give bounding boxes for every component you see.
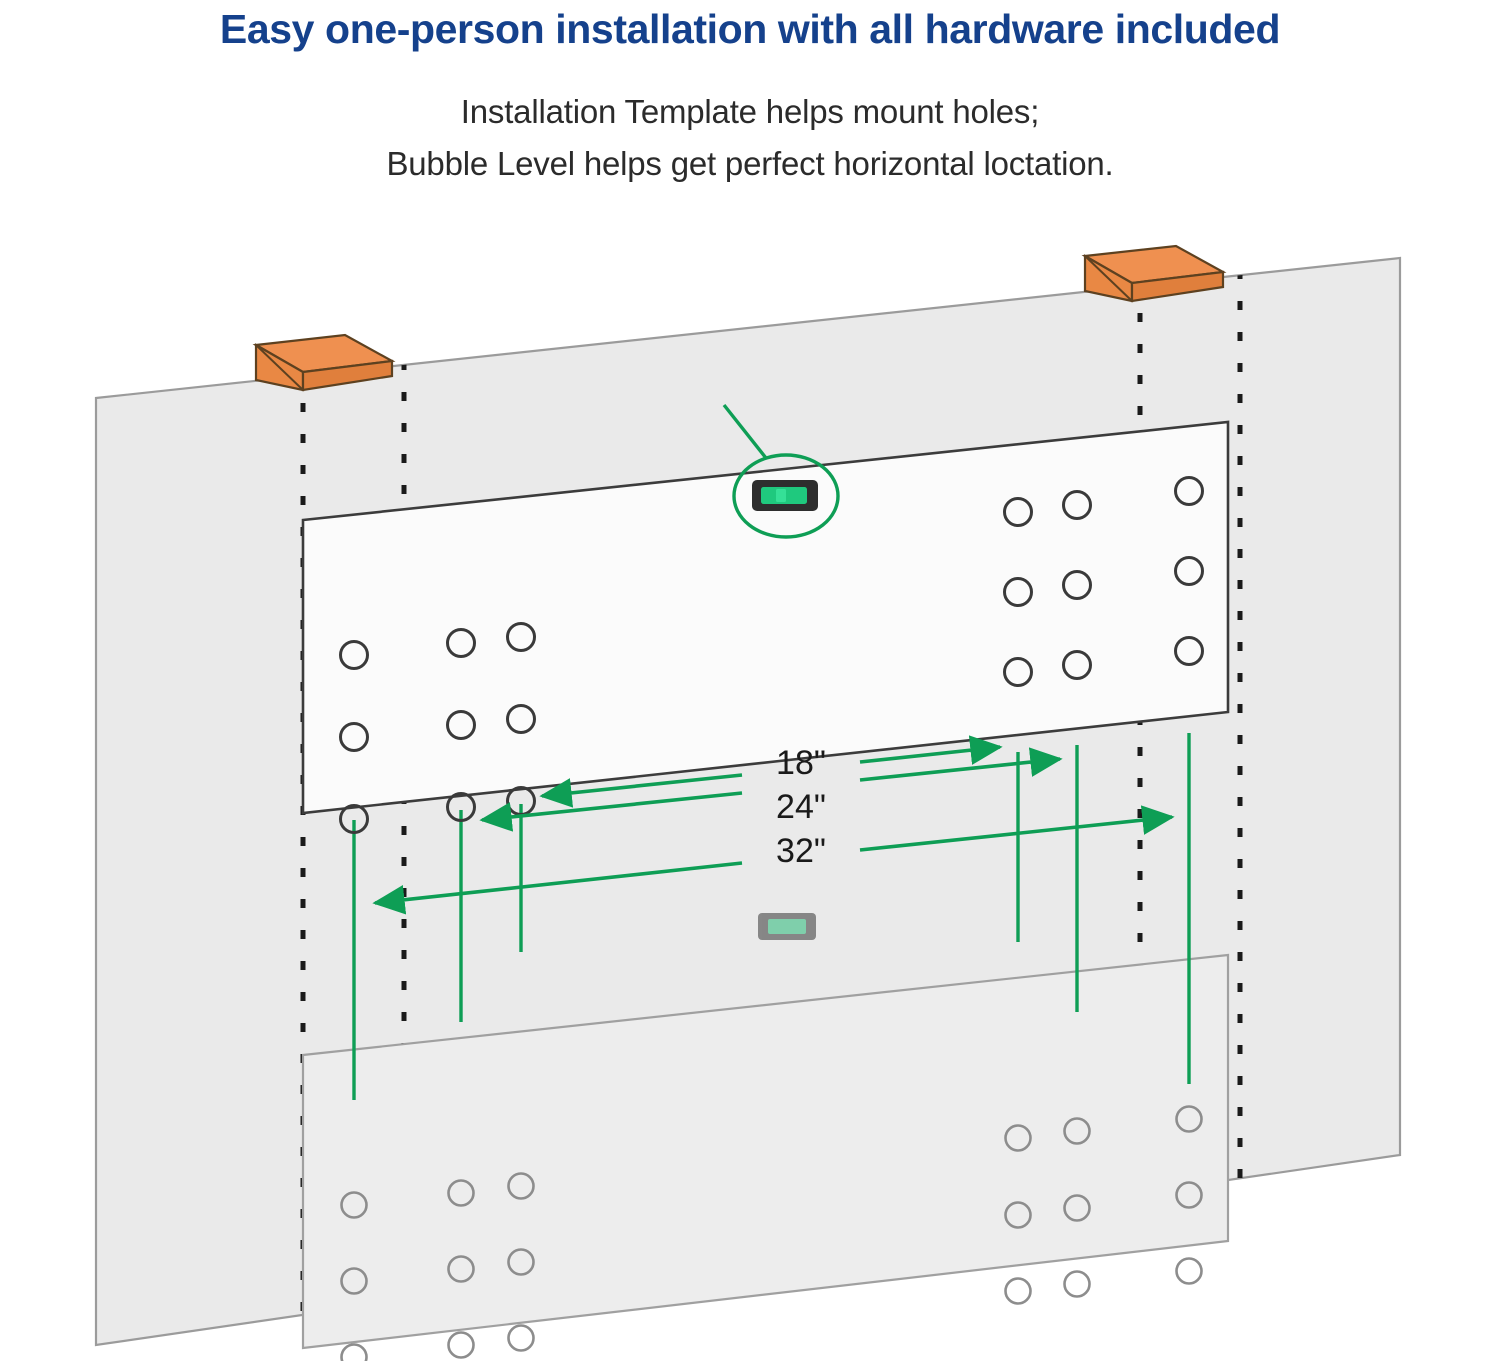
- dimension-32-label: 32": [776, 832, 826, 870]
- page-subtitle: Installation Template helps mount holes;…: [0, 86, 1500, 190]
- hole: [1065, 1272, 1090, 1297]
- hole: [509, 1326, 534, 1351]
- subtitle-line-2: Bubble Level helps get perfect horizonta…: [0, 138, 1500, 190]
- bubble-level-upper: [752, 480, 818, 511]
- diagram-svg: 18" 24" 32" Bubble Level: [0, 200, 1500, 1361]
- callout-label: Bubble Level: [669, 200, 860, 204]
- dimension-24-label: 24": [776, 788, 826, 826]
- page-headline: Easy one-person installation with all ha…: [0, 4, 1500, 54]
- page-root: Easy one-person installation with all ha…: [0, 0, 1500, 1361]
- hole: [449, 1333, 474, 1358]
- hole: [1177, 1259, 1202, 1284]
- installation-diagram: 18" 24" 32" Bubble Level: [0, 200, 1500, 1361]
- subtitle-line-1: Installation Template helps mount holes;: [0, 86, 1500, 138]
- hole: [1006, 1279, 1031, 1304]
- hole: [342, 1345, 367, 1361]
- dimension-18-label: 18": [776, 744, 826, 782]
- bubble-level-lower: [758, 913, 816, 940]
